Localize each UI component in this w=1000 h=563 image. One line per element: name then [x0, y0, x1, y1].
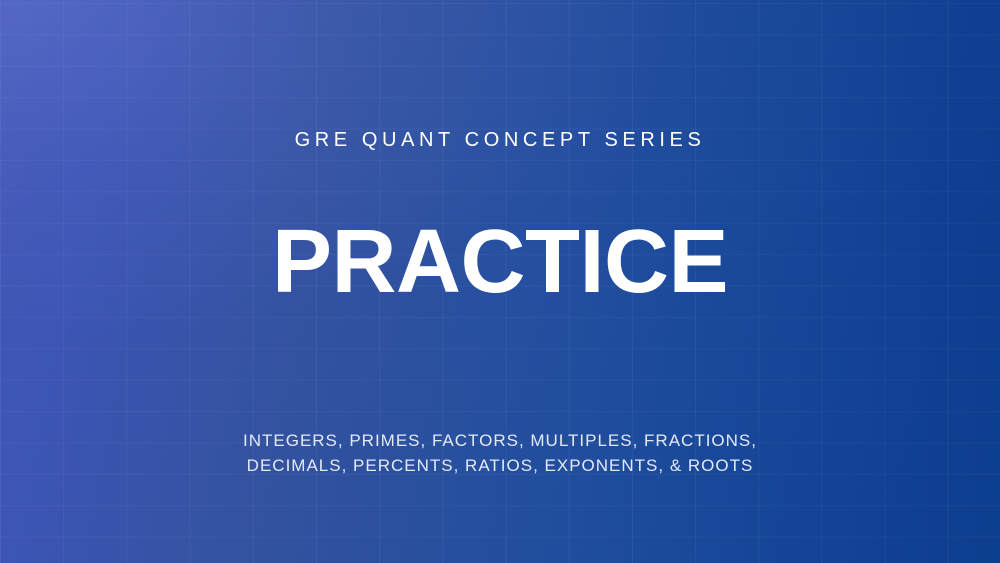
slide-subtitle: INTEGERS, PRIMES, FACTORS, MULTIPLES, FR…: [243, 428, 757, 478]
title-slide: GRE QUANT CONCEPT SERIES PRACTICE INTEGE…: [0, 0, 1000, 563]
subtitle-line-2: DECIMALS, PERCENTS, RATIOS, EXPONENTS, &…: [243, 453, 757, 478]
series-eyebrow: GRE QUANT CONCEPT SERIES: [295, 130, 706, 150]
slide-title: PRACTICE: [272, 219, 728, 305]
slide-content: GRE QUANT CONCEPT SERIES PRACTICE INTEGE…: [0, 0, 1000, 563]
subtitle-line-1: INTEGERS, PRIMES, FACTORS, MULTIPLES, FR…: [243, 428, 757, 453]
